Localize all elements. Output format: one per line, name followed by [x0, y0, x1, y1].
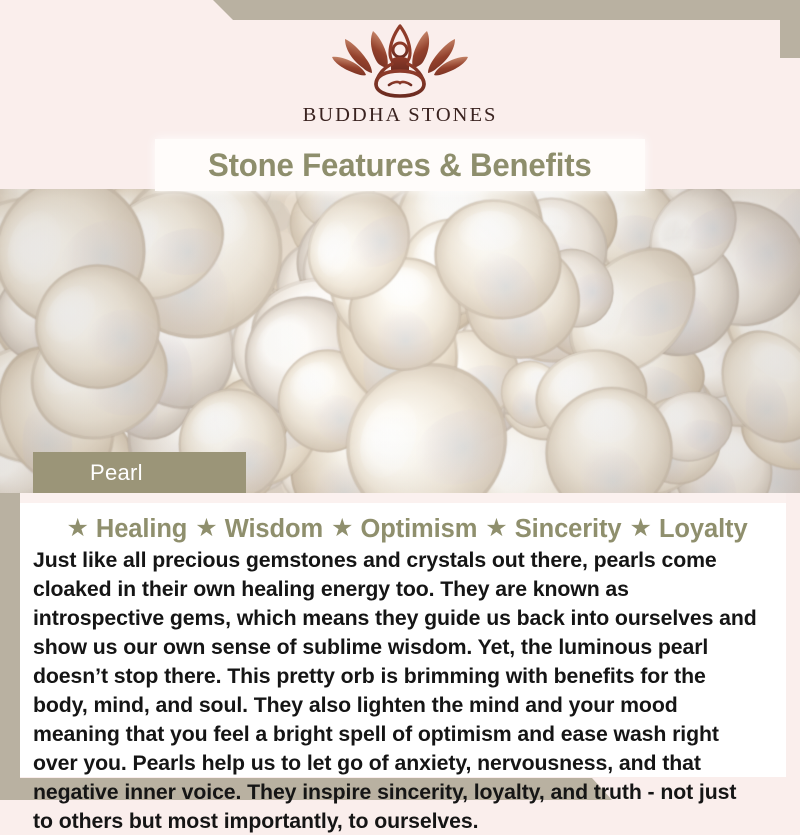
star-icon: ★	[66, 516, 88, 541]
star-icon: ★	[485, 516, 507, 541]
keyword-item-healing: ★ Healing	[58, 515, 187, 544]
star-icon: ★	[331, 516, 353, 541]
section-title-banner: Stone Features & Benefits	[155, 139, 645, 191]
keywords-row: ★ Healing ★ Wisdom ★ Optimism ★ Sincerit…	[20, 515, 786, 544]
brand-header: BUDDHA STONES	[0, 0, 800, 148]
keyword-item-optimism: ★ Optimism	[323, 515, 477, 544]
star-icon: ★	[195, 516, 217, 541]
stone-name-badge: Pearl	[33, 452, 246, 493]
stone-benefits-panel: ★ Healing ★ Wisdom ★ Optimism ★ Sincerit…	[20, 493, 786, 777]
star-icon: ★	[630, 516, 652, 541]
keyword-label: Loyalty	[659, 515, 748, 544]
pearl-photo-canvas	[0, 189, 800, 493]
keyword-item-wisdom: ★ Wisdom	[187, 515, 323, 544]
lotus-meditation-icon	[305, 22, 495, 100]
brand-name: BUDDHA STONES	[303, 104, 498, 127]
frame-band-left	[0, 492, 20, 800]
keyword-item-sincerity: ★ Sincerity	[477, 515, 621, 544]
keyword-label: Healing	[96, 515, 187, 544]
keyword-item-loyalty: ★ Loyalty	[622, 515, 748, 544]
keyword-label: Optimism	[360, 515, 477, 544]
stone-name-label: Pearl	[33, 460, 143, 486]
keyword-label: Wisdom	[225, 515, 323, 544]
pearl-stones-photo: Pearl	[0, 189, 800, 493]
panel-top-tint	[20, 493, 786, 503]
keyword-label: Sincerity	[515, 515, 622, 544]
page-title: Stone Features & Benefits	[208, 147, 592, 184]
stone-description: Just like all precious gemstones and cry…	[33, 545, 762, 835]
